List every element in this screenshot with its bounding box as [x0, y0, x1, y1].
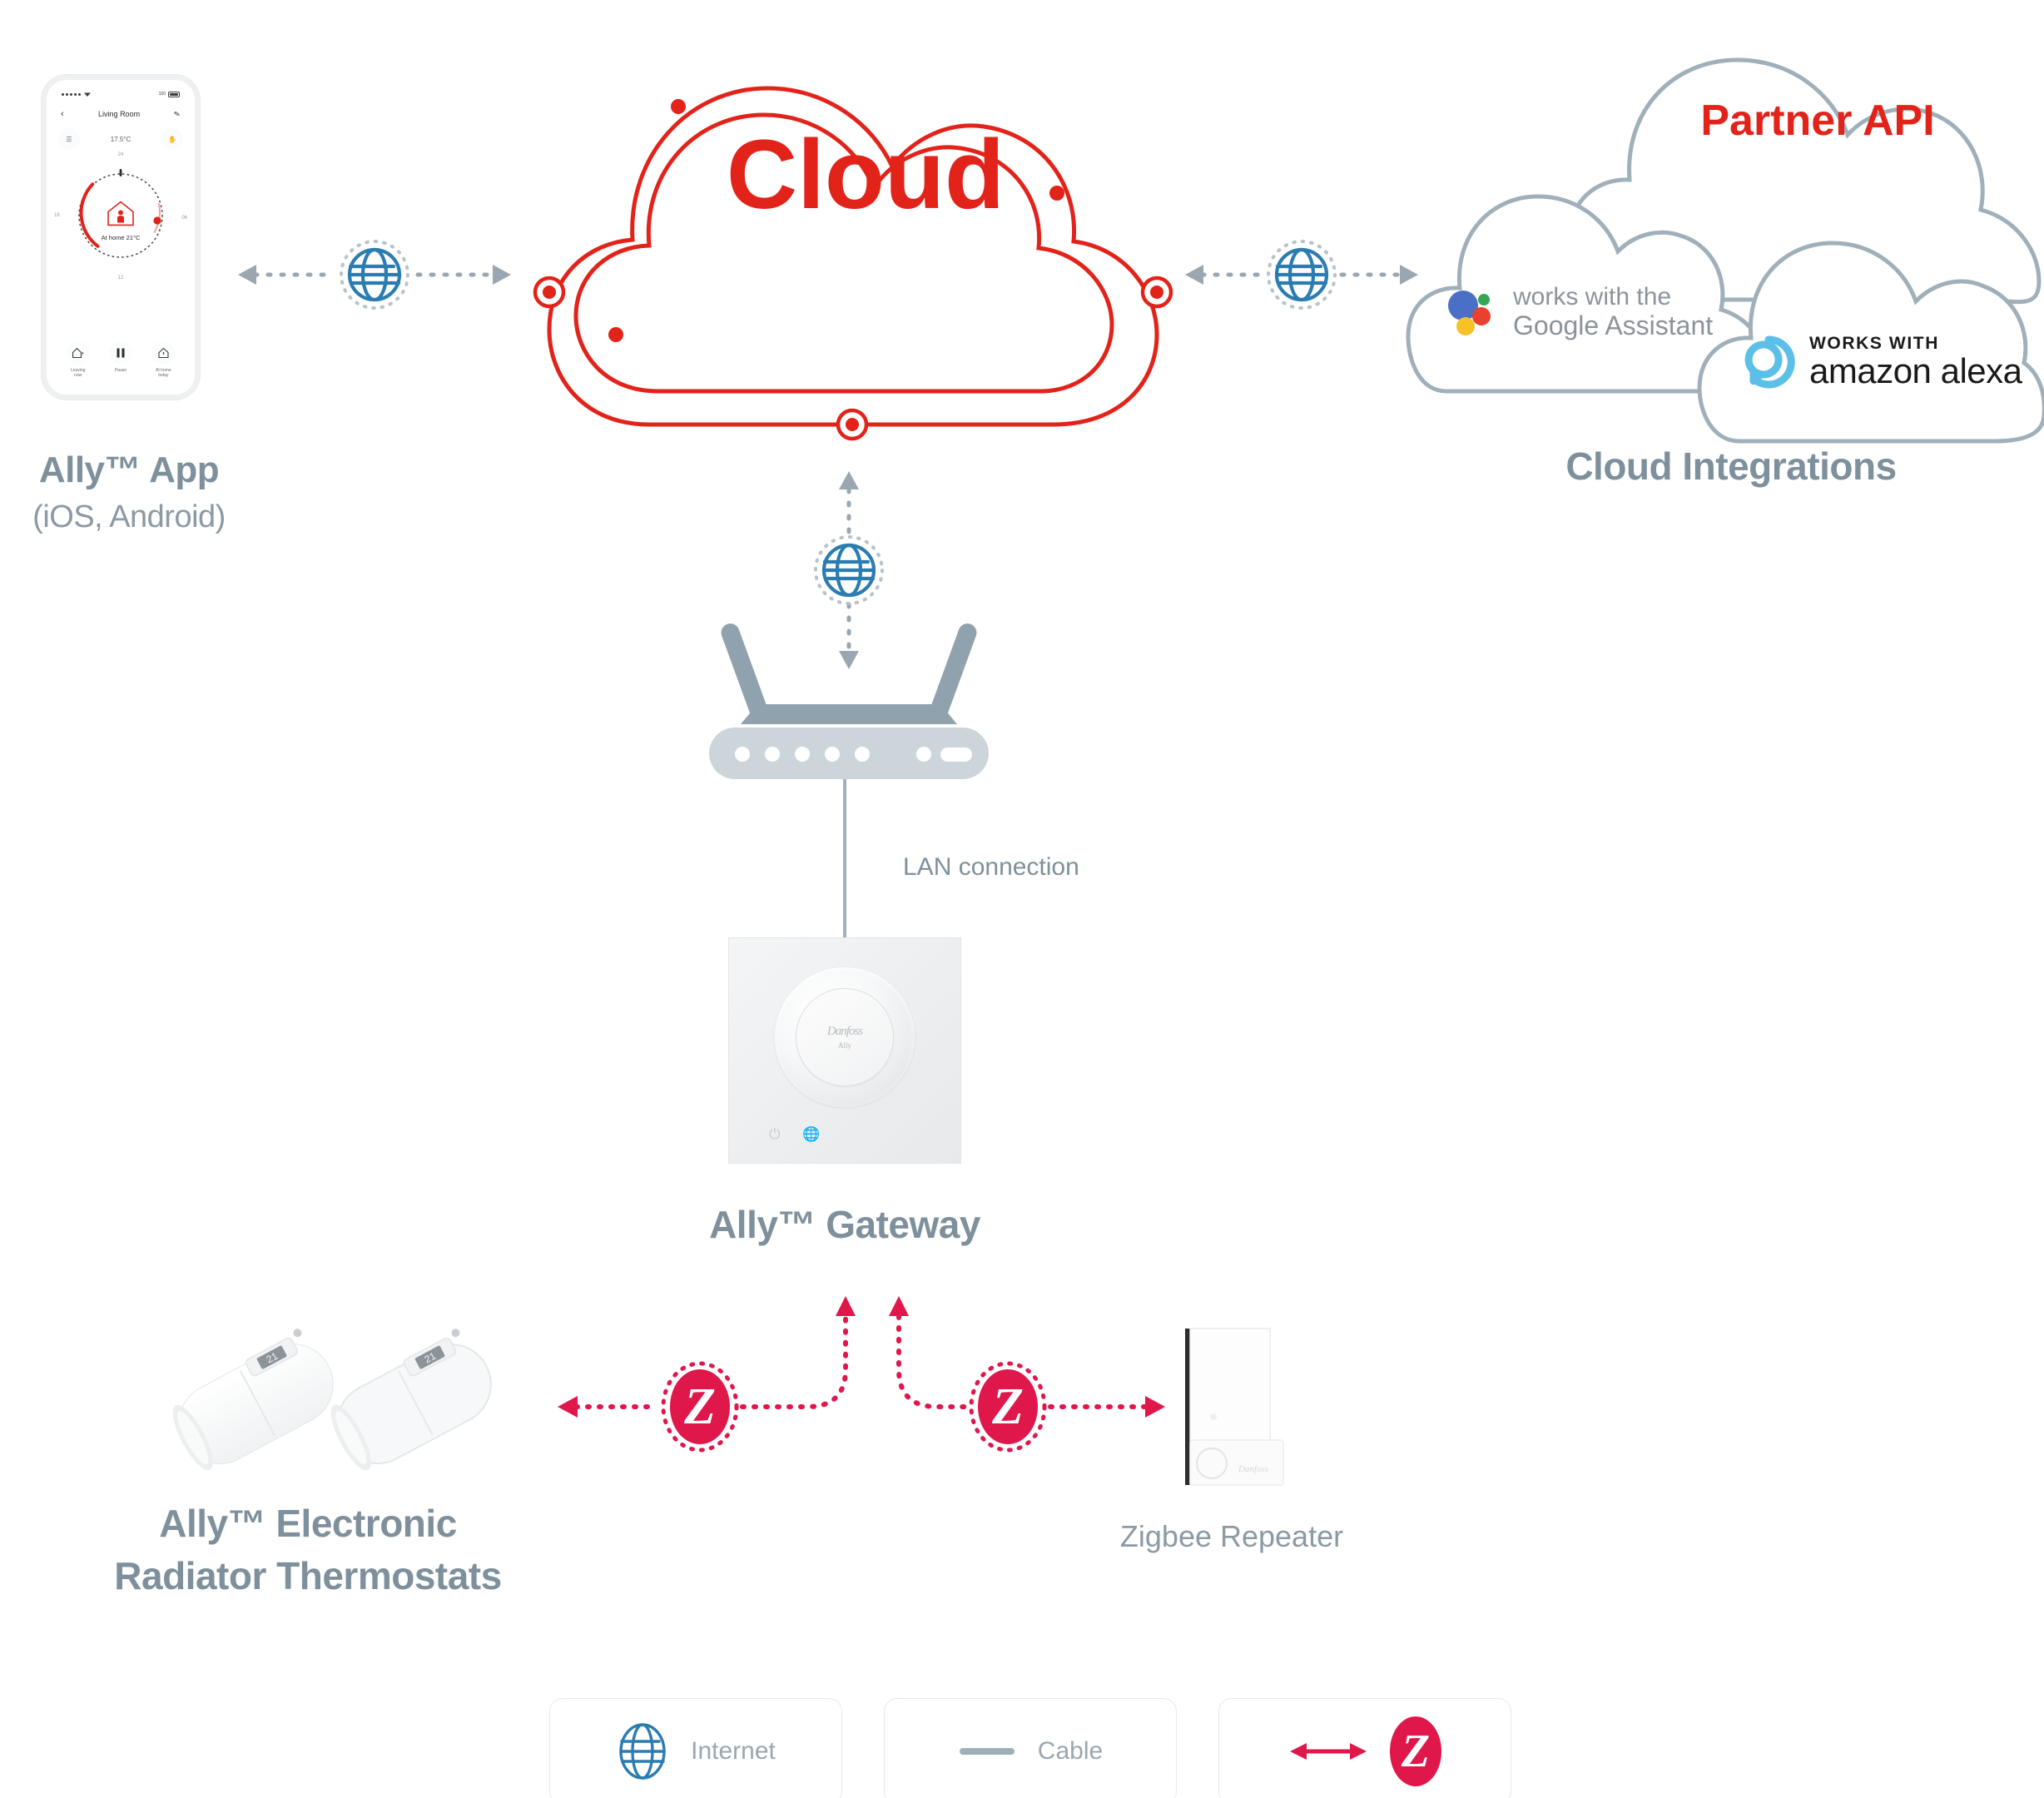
thermostat-device: 21 — [161, 1324, 347, 1478]
globe-icon — [350, 250, 399, 300]
action-label: Pause — [115, 368, 127, 373]
gateway-button[interactable]: Danfoss Ally — [796, 988, 894, 1086]
globe-icon — [1277, 250, 1327, 300]
battery-level: 100 — [159, 92, 166, 97]
zigbee-icon: Z — [670, 1369, 730, 1444]
dial-tick-24: 24 — [118, 152, 124, 157]
legend-item-cable: Cable — [884, 1698, 1177, 1798]
temperature-dial[interactable]: At home 21°C 24 18 12 06 — [67, 162, 174, 269]
zigbee-icon: Z — [1390, 1716, 1441, 1786]
danfoss-logo: Danfoss — [827, 1025, 862, 1039]
room-title: Living Room — [98, 110, 140, 118]
zigbee-repeater: Danfoss — [1173, 1324, 1282, 1490]
action-at-home-today[interactable]: At hometoday — [151, 341, 175, 379]
action-pause[interactable]: Pause — [109, 341, 132, 379]
cloud-node: Cloud — [524, 8, 1207, 474]
line-icon — [958, 1743, 1016, 1760]
phone-status-bar: 100 — [50, 88, 191, 100]
google-assistant-badge: works with the Google Assistant — [1446, 283, 1713, 340]
partner-api-label: Partner API — [1651, 96, 1984, 146]
diagram-canvas: 100 ‹ Living Room ✎ ☰ 17.5°C ✋ — [0, 0, 2044, 1798]
legend: Internet Cable Z — [549, 1698, 1511, 1798]
gateway-label: Ally™ Gateway — [633, 1204, 1057, 1247]
leaving-icon — [67, 341, 90, 365]
gateway-button-ring[interactable]: Danfoss Ally — [775, 967, 915, 1107]
globe-icon — [616, 1721, 669, 1781]
signal-icon — [62, 92, 91, 97]
phone-nav-bar: ‹ Living Room ✎ — [50, 105, 191, 123]
wifi-router-icon — [691, 624, 1007, 791]
pause-icon — [109, 341, 132, 365]
ally-thermostats: 21 21 — [158, 1315, 508, 1490]
action-label: Leavingnow — [71, 368, 86, 379]
dial-tick-12: 12 — [118, 276, 124, 281]
connection-cloud-to-integrations — [1182, 233, 1423, 316]
app-label: Ally™ App — [0, 449, 258, 490]
globe-icon: 🌐 — [802, 1126, 820, 1143]
cloud-integrations-label: Cloud Integrations — [1490, 445, 1972, 489]
phone-action-bar: Leavingnow Pause — [50, 341, 191, 379]
cloud-integrations-group: Partner API works with the Google Assist… — [1406, 25, 2044, 449]
current-temperature: 17.5°C — [111, 136, 131, 143]
back-icon[interactable]: ‹ — [61, 109, 64, 119]
phone-screen: 100 ‹ Living Room ✎ ☰ 17.5°C ✋ — [50, 83, 191, 391]
edit-icon[interactable]: ✎ — [174, 109, 181, 119]
alexa-icon — [1743, 336, 1794, 388]
thermostats-label-line2: Radiator Thermostats — [33, 1555, 583, 1598]
cloud-port-bottom — [838, 410, 866, 439]
google-assistant-icon — [1446, 289, 1498, 335]
home-icon — [151, 341, 175, 365]
wifi-router — [691, 624, 1007, 791]
lan-cable — [843, 779, 846, 937]
cloud-port-right — [1143, 278, 1171, 306]
bidirectional-arrow-icon — [1288, 1739, 1368, 1764]
alexa-line2: amazon alexa — [1809, 353, 2022, 390]
globe-icon — [824, 545, 874, 595]
dial-tick-18: 18 — [54, 213, 60, 218]
lan-connection-label: LAN connection — [903, 853, 1079, 882]
legend-item-zigbee: Z — [1218, 1698, 1511, 1798]
repeater-icon: Danfoss — [1173, 1324, 1282, 1490]
cloud-label: Cloud — [524, 118, 1207, 231]
svg-text:Danfoss: Danfoss — [1238, 1464, 1268, 1474]
google-line2: Google Assistant — [1513, 311, 1713, 341]
ally-gateway: Danfoss Ally ⏻ 🌐 — [728, 937, 961, 1164]
home-illustration — [107, 200, 135, 226]
gateway-product-name: Ally — [838, 1041, 851, 1050]
alexa-line1: WORKS WITH — [1809, 335, 2022, 353]
battery-indicator: 100 — [159, 92, 180, 97]
action-label: At hometoday — [156, 368, 171, 379]
battery-icon — [168, 92, 180, 97]
amazon-alexa-badge: WORKS WITH amazon alexa — [1743, 335, 2022, 390]
google-line1: works with the — [1513, 283, 1713, 311]
legend-label: Cable — [1038, 1737, 1103, 1766]
legend-item-internet: Internet — [549, 1698, 842, 1798]
repeater-label: Zigbee Repeater — [1107, 1519, 1357, 1554]
phone-info-row: ☰ 17.5°C ✋ — [50, 127, 191, 151]
app-sublabel: (iOS, Android) — [0, 499, 258, 535]
legend-label: Internet — [691, 1737, 776, 1766]
zigbee-links: Z Z — [533, 1286, 1173, 1419]
dial-center-label: At home 21°C — [102, 234, 141, 241]
hand-icon[interactable]: ✋ — [161, 128, 183, 150]
action-leaving-now[interactable]: Leavingnow — [67, 341, 90, 379]
power-icon: ⏻ — [769, 1126, 780, 1143]
connection-app-to-cloud — [233, 233, 516, 316]
menu-icon[interactable]: ☰ — [58, 128, 80, 150]
thermostats-label-line1: Ally™ Electronic — [33, 1502, 583, 1546]
zigbee-icon: Z — [978, 1369, 1038, 1444]
thermostat-device: 21 — [319, 1324, 505, 1478]
ally-app-phone: 100 ‹ Living Room ✎ ☰ 17.5°C ✋ — [42, 75, 200, 400]
cloud-port-left — [535, 278, 563, 306]
dial-tick-06: 06 — [181, 216, 187, 221]
